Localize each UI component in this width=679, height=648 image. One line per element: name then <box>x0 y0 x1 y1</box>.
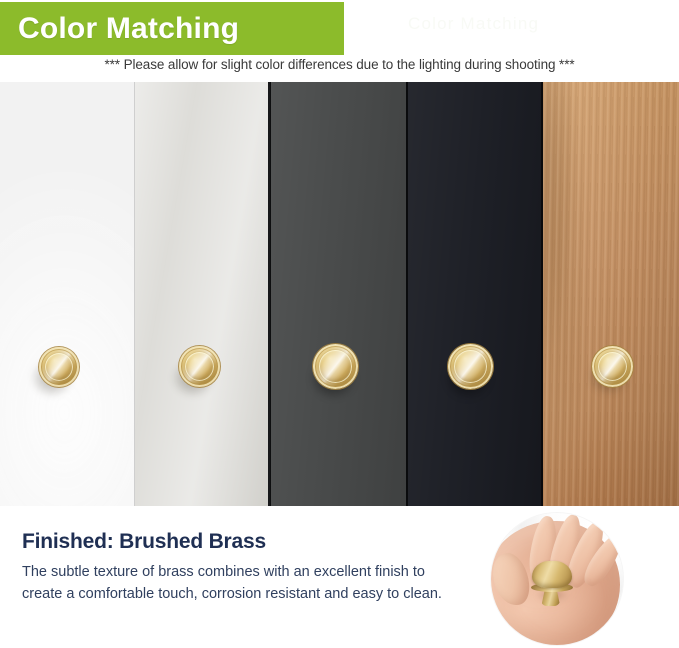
hand-holding-knob-photo <box>491 513 623 645</box>
knob-face <box>598 352 628 382</box>
banner-title: Color Matching <box>0 14 239 44</box>
color-swatch-strip <box>0 82 679 506</box>
watermark-ghost-text: Color Matching <box>408 14 670 44</box>
finish-description: The subtle texture of brass combines wit… <box>22 562 442 605</box>
color-matching-banner: Color Matching <box>0 2 344 55</box>
brushed-brass-knob <box>592 346 633 387</box>
header-section: Color Matching Color Matching *** Please… <box>0 0 679 82</box>
brushed-brass-knob <box>313 344 358 389</box>
swatch-panel-white <box>0 82 135 506</box>
knob-face <box>45 353 74 382</box>
held-knob-cap <box>532 561 572 589</box>
knob-face <box>319 350 351 382</box>
held-brass-knob <box>528 561 576 606</box>
brushed-brass-knob <box>179 346 220 387</box>
knob-face <box>454 350 486 382</box>
swatch-panel-wood <box>543 82 679 506</box>
swatch-panel-light-grey <box>135 82 270 506</box>
color-disclaimer-note: *** Please allow for slight color differ… <box>0 57 679 72</box>
finish-title: Finished: Brushed Brass <box>22 530 266 554</box>
swatch-panel-black <box>408 82 543 506</box>
brushed-brass-knob <box>448 344 493 389</box>
product-color-matching-infographic: Color Matching Color Matching *** Please… <box>0 0 679 648</box>
swatch-panel-dark-grey <box>270 82 408 506</box>
knob-face <box>185 352 215 382</box>
brushed-brass-knob <box>39 347 79 387</box>
